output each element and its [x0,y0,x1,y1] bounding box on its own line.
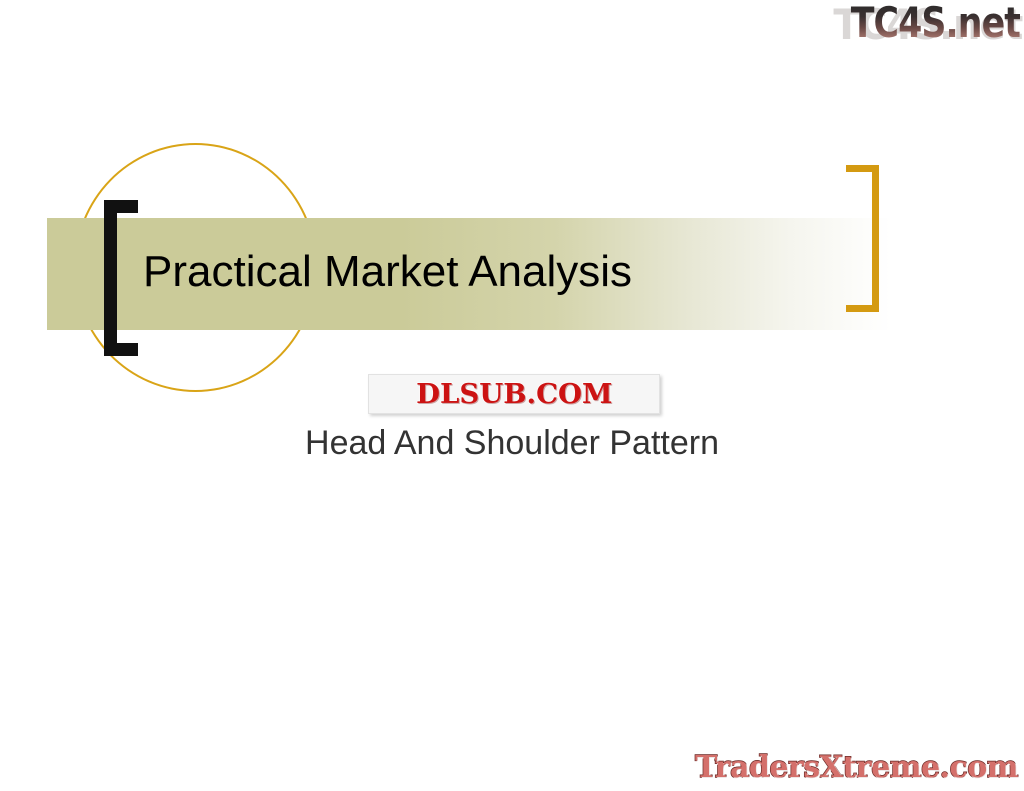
dlsub-logo: DLSUB.COM [368,374,660,414]
slide-title: Practical Market Analysis [143,245,843,299]
tradersxtreme-watermark: TradersXtreme.com [695,750,1018,785]
slide-subtitle: Head And Shoulder Pattern [0,422,1024,464]
dlsub-logo-text: DLSUB.COM [416,379,612,410]
presentation-slide: TC4S.net TC4S.net Practical Market Analy… [0,0,1024,791]
open-bracket-icon [104,200,138,356]
tc4s-watermark: TC4S.net [851,2,1020,44]
close-bracket-icon [846,165,879,312]
